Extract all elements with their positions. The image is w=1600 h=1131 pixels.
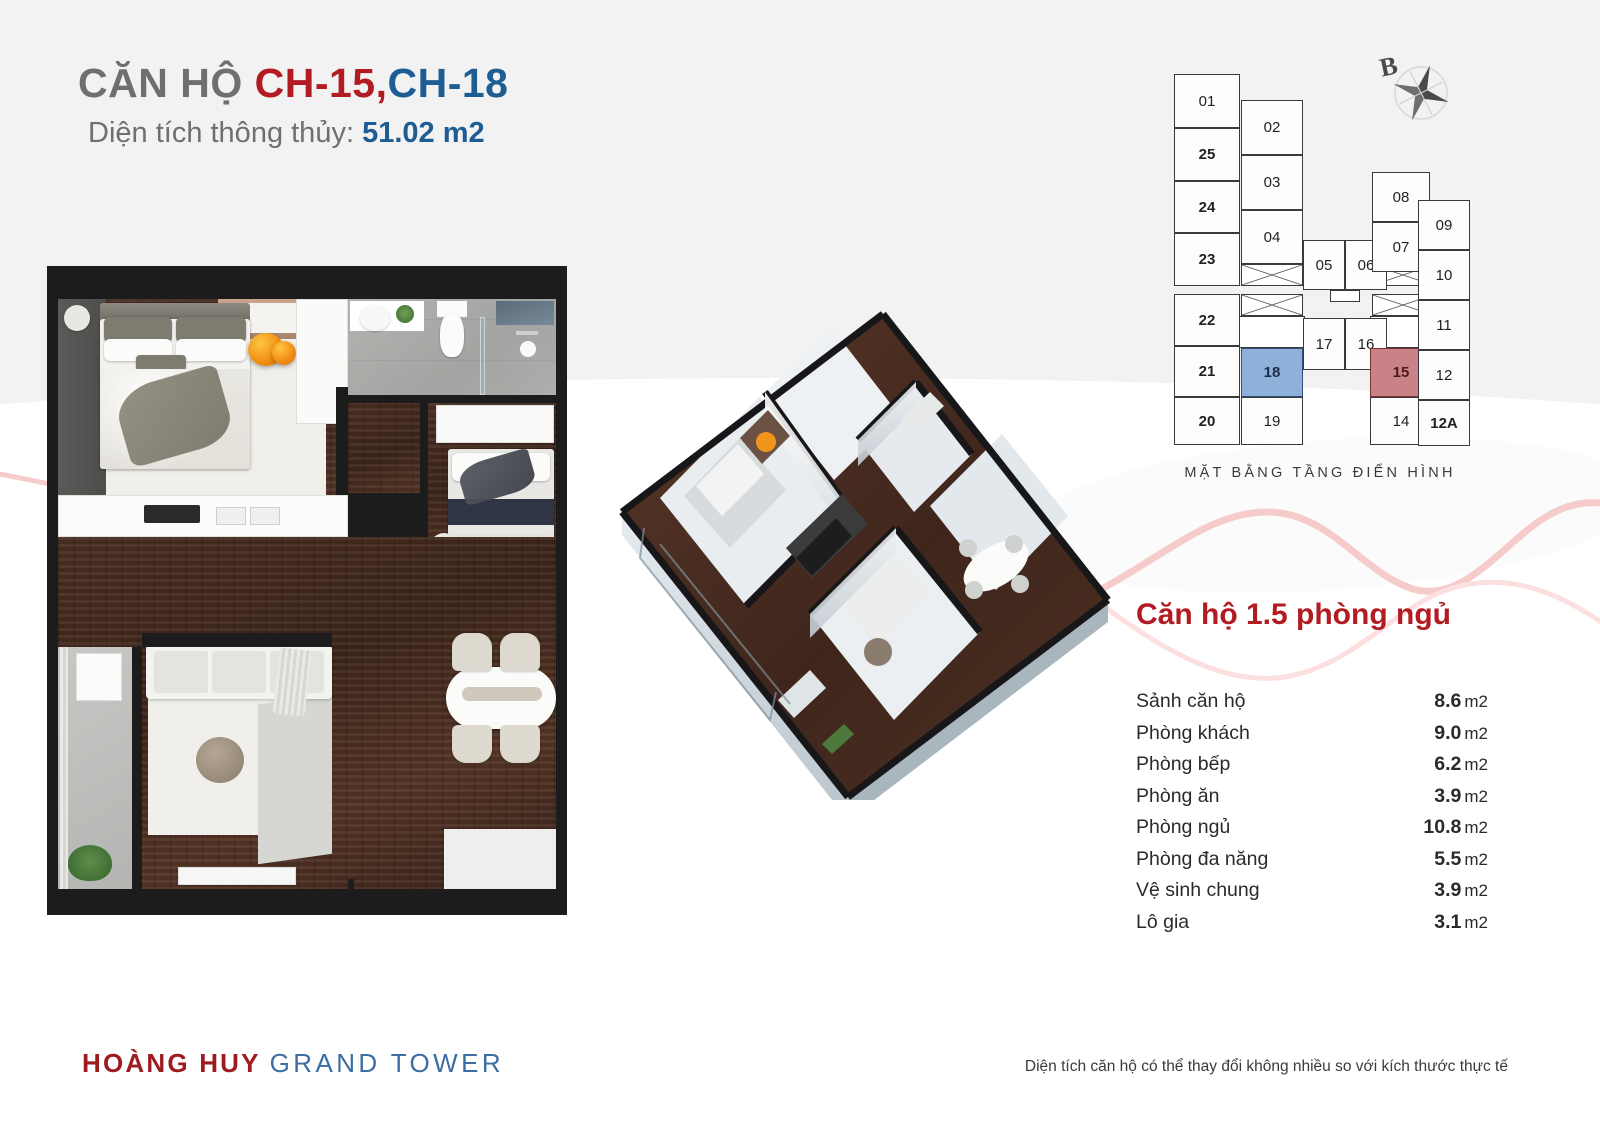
net-area-label: Diện tích thông thủy:: [88, 117, 354, 149]
keymap-unit-25[interactable]: 25: [1174, 128, 1240, 181]
kitchen-sink-right: [250, 507, 280, 525]
duvet-multipurpose-dark: [448, 499, 554, 525]
bathroom-mirror: [496, 301, 554, 325]
room-row: Phòng đa năng 5.5m2: [1136, 848, 1488, 871]
page-subtitle: Diện tích thông thủy: 51.02 m2: [88, 117, 508, 150]
unit-code-red: CH-15,: [255, 60, 388, 106]
room-name: Phòng bếp: [1136, 753, 1230, 776]
decor-orange-sphere-2: [272, 341, 296, 365]
room-area: 5.5m2: [1434, 848, 1488, 871]
apartment-type-title: Căn hộ 1.5 phòng ngủ: [1136, 598, 1451, 632]
room-area: 10.8m2: [1423, 816, 1488, 839]
iso-dining-chair-2: [1011, 575, 1029, 593]
wall-entry: [348, 879, 354, 889]
keymap-unit-22[interactable]: 22: [1174, 294, 1240, 346]
keymap-lobby-left: [1239, 316, 1305, 348]
keymap-caption: MẶT BẰNG TẦNG ĐIỂN HÌNH: [1150, 465, 1490, 481]
iso-dining-chair-3: [965, 581, 983, 599]
keymap-unit-09[interactable]: 09: [1418, 200, 1470, 250]
room-area: 8.6m2: [1434, 690, 1488, 713]
sofa-cushion-2: [212, 651, 266, 693]
page-title: CĂN HỘ CH-15,CH-18: [78, 62, 508, 105]
keymap-unit-12A[interactable]: 12A: [1418, 400, 1470, 446]
shower-head: [516, 331, 538, 335]
dining-chair-1: [452, 633, 492, 671]
floorplan-2d: [48, 267, 566, 914]
keymap-unit-18-selected[interactable]: 18: [1241, 348, 1303, 397]
keymap-unit-05[interactable]: 05: [1303, 240, 1345, 290]
keymap-unit-20[interactable]: 20: [1174, 397, 1240, 445]
iso-coffee-table: [864, 638, 892, 666]
wall-bath-bottom: [348, 395, 556, 403]
room-row: Phòng ăn 3.9m2: [1136, 785, 1488, 808]
title-prefix: CĂN HỘ: [78, 60, 243, 106]
multipurpose-wardrobe: [436, 405, 554, 443]
brand-logo: HOÀNG HUY GRAND TOWER: [82, 1048, 504, 1079]
living-throw-blanket: [273, 648, 312, 717]
footer-disclaimer: Diện tích căn hộ có thể thay đổi không n…: [1025, 1058, 1508, 1076]
loggia-curtain: [60, 647, 68, 889]
living-tv-console: [178, 867, 296, 885]
iso-orange-sphere: [756, 432, 776, 452]
pillow-white-right: [176, 339, 246, 361]
wall-loggia-right: [132, 647, 142, 889]
bathroom-basin: [360, 305, 390, 331]
kitchen-sink-left: [216, 507, 246, 525]
living-rug-grey: [258, 694, 332, 864]
dining-chair-2: [500, 633, 540, 671]
room-name: Phòng đa năng: [1136, 848, 1268, 871]
room-area: 3.9m2: [1434, 879, 1488, 902]
room-row: Vệ sinh chung 3.9m2: [1136, 879, 1488, 902]
keymap-unit-01[interactable]: 01: [1174, 74, 1240, 128]
keymap-corridor-top: [1330, 290, 1360, 302]
keymap-unit-23[interactable]: 23: [1174, 233, 1240, 286]
wall-bedroom-right: [336, 387, 348, 495]
room-row: Phòng ngủ 10.8m2: [1136, 816, 1488, 839]
room-row: Phòng khách 9.0m2: [1136, 722, 1488, 745]
floorplan-3d-isometric: [600, 300, 1120, 800]
room-name: Phòng khách: [1136, 722, 1250, 745]
keymap-stair-core-left-top: [1241, 264, 1303, 286]
living-coffee-table: [196, 737, 244, 783]
loggia-unit: [76, 653, 122, 701]
kitchen-hob: [144, 505, 200, 523]
keymap-unit-04[interactable]: 04: [1241, 210, 1303, 264]
sofa-cushion-1: [154, 651, 208, 693]
keymap-unit-10[interactable]: 10: [1418, 250, 1470, 300]
room-area: 9.0m2: [1434, 722, 1488, 745]
entry-shoe-cabinet: [444, 829, 556, 889]
poster-root: CĂN HỘ CH-15,CH-18 Diện tích thông thủy:…: [0, 0, 1600, 1131]
keymap-unit-17[interactable]: 17: [1303, 318, 1345, 370]
brand-name-secondary: GRAND TOWER: [270, 1048, 504, 1078]
keymap-unit-19[interactable]: 19: [1241, 397, 1303, 445]
nightstand-master: [64, 305, 90, 331]
net-area-value: 51.02 m2: [362, 117, 485, 149]
shower-glass-partition: [480, 317, 485, 395]
room-area-list: Sảnh căn hộ 8.6m2 Phòng khách 9.0m2 Phòn…: [1136, 690, 1488, 942]
header: CĂN HỘ CH-15,CH-18 Diện tích thông thủy:…: [78, 62, 508, 150]
room-name: Phòng ngủ: [1136, 816, 1230, 839]
keymap-unit-11[interactable]: 11: [1418, 300, 1470, 350]
bathroom-toilet: [440, 313, 464, 357]
dining-centerpiece: [462, 687, 542, 701]
keymap-unit-02[interactable]: 02: [1241, 100, 1303, 155]
keymap-unit-21[interactable]: 21: [1174, 346, 1240, 397]
room-row: Sảnh căn hộ 8.6m2: [1136, 690, 1488, 713]
room-row: Lô gia 3.1m2: [1136, 911, 1488, 934]
keymap-unit-24[interactable]: 24: [1174, 181, 1240, 233]
iso-dining-chair-4: [1005, 535, 1023, 553]
room-area: 6.2m2: [1434, 753, 1488, 776]
room-row: Phòng bếp 6.2m2: [1136, 753, 1488, 776]
keymap-unit-12[interactable]: 12: [1418, 350, 1470, 400]
room-name: Vệ sinh chung: [1136, 879, 1260, 902]
wall-living-top: [142, 633, 332, 647]
iso-dining-chair-1: [959, 539, 977, 557]
shower-bowl: [520, 341, 536, 357]
room-name: Phòng ăn: [1136, 785, 1220, 808]
wall-bedroom-bottom: [58, 485, 348, 495]
keymap-lift-core-left: [1241, 294, 1303, 316]
dining-chair-3: [452, 725, 492, 763]
room-name: Sảnh căn hộ: [1136, 690, 1246, 713]
kitchen-counter: [58, 495, 348, 537]
room-area: 3.1m2: [1434, 911, 1488, 934]
compass-rose-icon: [1390, 62, 1452, 124]
loggia-plant: [68, 845, 112, 881]
room-name: Lô gia: [1136, 911, 1189, 934]
keymap-unit-03[interactable]: 03: [1241, 155, 1303, 210]
bathroom-plant: [396, 305, 414, 323]
unit-code-blue: CH-18: [388, 60, 509, 106]
room-area: 3.9m2: [1434, 785, 1488, 808]
brand-name-primary: HOÀNG HUY: [82, 1048, 260, 1078]
dining-chair-4: [500, 725, 540, 763]
